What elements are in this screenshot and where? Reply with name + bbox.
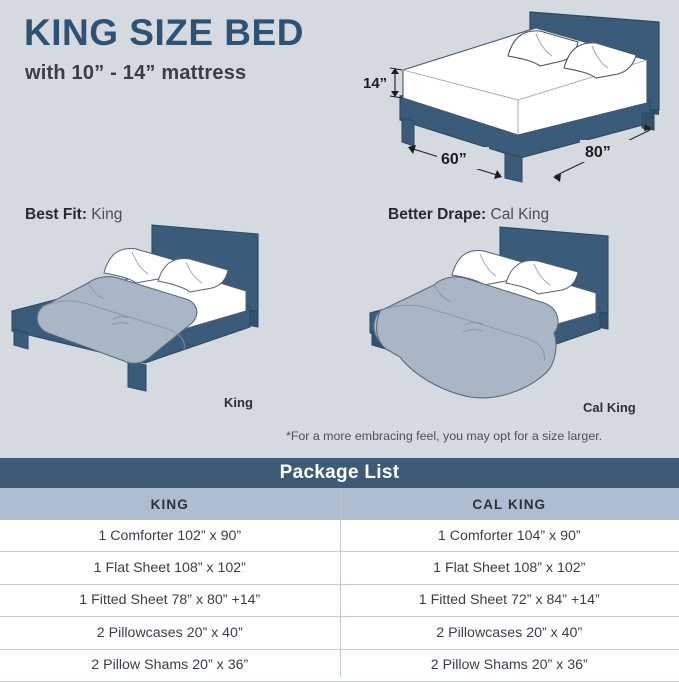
column-header-cal-king: CAL KING [340, 488, 679, 520]
cell-king: 1 Flat Sheet 108” x 102” [0, 552, 340, 583]
bed-dimension-diagram: 14” 60” 80” [340, 0, 679, 200]
package-list-table: Package List KING CAL KING 1 Comforter 1… [0, 458, 679, 682]
infographic-canvas: KING SIZE BED with 10” - 14” mattress 14… [0, 0, 679, 679]
footnote: *For a more embracing feel, you may opt … [286, 429, 602, 443]
cell-cal-king: 1 Flat Sheet 108” x 102” [340, 552, 679, 583]
cal-king-bed-illustration [340, 215, 679, 415]
cell-cal-king: 2 Pillow Shams 20” x 36” [340, 650, 679, 681]
cell-king: 2 Pillowcases 20” x 40” [0, 617, 340, 648]
cell-cal-king: 1 Comforter 104” x 90” [340, 520, 679, 551]
king-caption: King [224, 395, 253, 410]
width-dimension-label: 60” [441, 151, 467, 168]
page-subtitle: with 10” - 14” mattress [25, 62, 246, 85]
height-dimension-label: 14” [363, 75, 387, 92]
length-dimension-label: 80” [585, 144, 611, 161]
cell-king: 1 Fitted Sheet 78” x 80” +14” [0, 585, 340, 616]
cal-king-caption: Cal King [583, 400, 636, 415]
cell-king: 2 Pillow Shams 20” x 36” [0, 650, 340, 681]
package-list-title: Package List [0, 458, 679, 488]
column-header-king: KING [0, 488, 340, 520]
cell-king: 1 Comforter 102” x 90” [0, 520, 340, 551]
cell-cal-king: 2 Pillowcases 20” x 40” [340, 617, 679, 648]
king-bed-illustration [0, 215, 340, 405]
page-title: KING SIZE BED [24, 14, 304, 53]
cell-cal-king: 1 Fitted Sheet 72” x 84” +14” [340, 585, 679, 616]
table-column-divider [340, 488, 341, 677]
